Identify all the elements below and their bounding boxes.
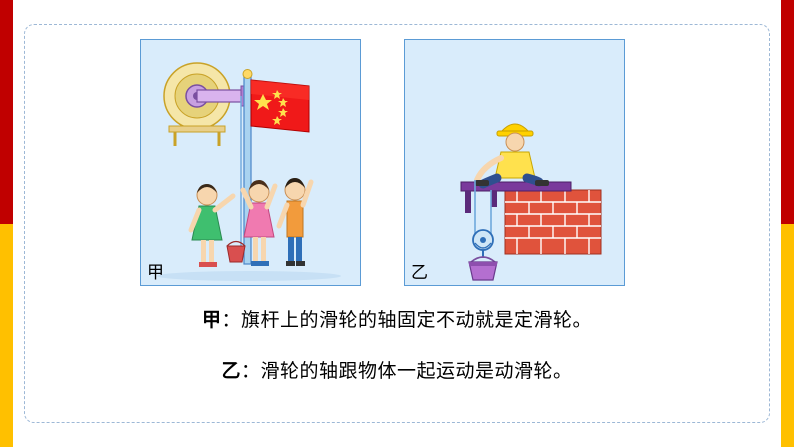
bucket-red: [227, 242, 245, 263]
decor-bar-right-yellow: [781, 224, 794, 447]
picture-label-jia: 甲: [147, 258, 164, 283]
worker: [475, 124, 549, 186]
child-green: [191, 184, 233, 267]
caption-1-lead: 甲: [202, 309, 222, 331]
picture-flagpole-pulley: 甲: [140, 39, 361, 286]
flagpole-scene-illustration: [141, 40, 358, 283]
caption-2-lead: 乙: [221, 360, 241, 382]
hanging-bucket: [469, 257, 497, 280]
brick-wall: [505, 190, 601, 254]
slide: 甲: [0, 0, 794, 447]
child-blue: [279, 178, 311, 266]
caption-line-1: 甲：旗杆上的滑轮的轴固定不动就是定滑轮。: [0, 305, 794, 332]
picture-movable-pulley: 乙: [404, 39, 625, 286]
decor-bar-left-yellow: [0, 224, 13, 447]
movable-pulley-scene-illustration: [405, 40, 622, 283]
caption-1-text: ：旗杆上的滑轮的轴固定不动就是定滑轮。: [222, 309, 593, 331]
caption-line-2: 乙：滑轮的轴跟物体一起运动是动滑轮。: [0, 356, 794, 383]
caption-2-text: ：滑轮的轴跟物体一起运动是动滑轮。: [241, 360, 573, 382]
decor-bar-left-red: [0, 0, 13, 224]
picture-label-yi: 乙: [411, 258, 428, 283]
decor-bar-right-red: [781, 0, 794, 224]
movable-pulley: [473, 230, 493, 258]
